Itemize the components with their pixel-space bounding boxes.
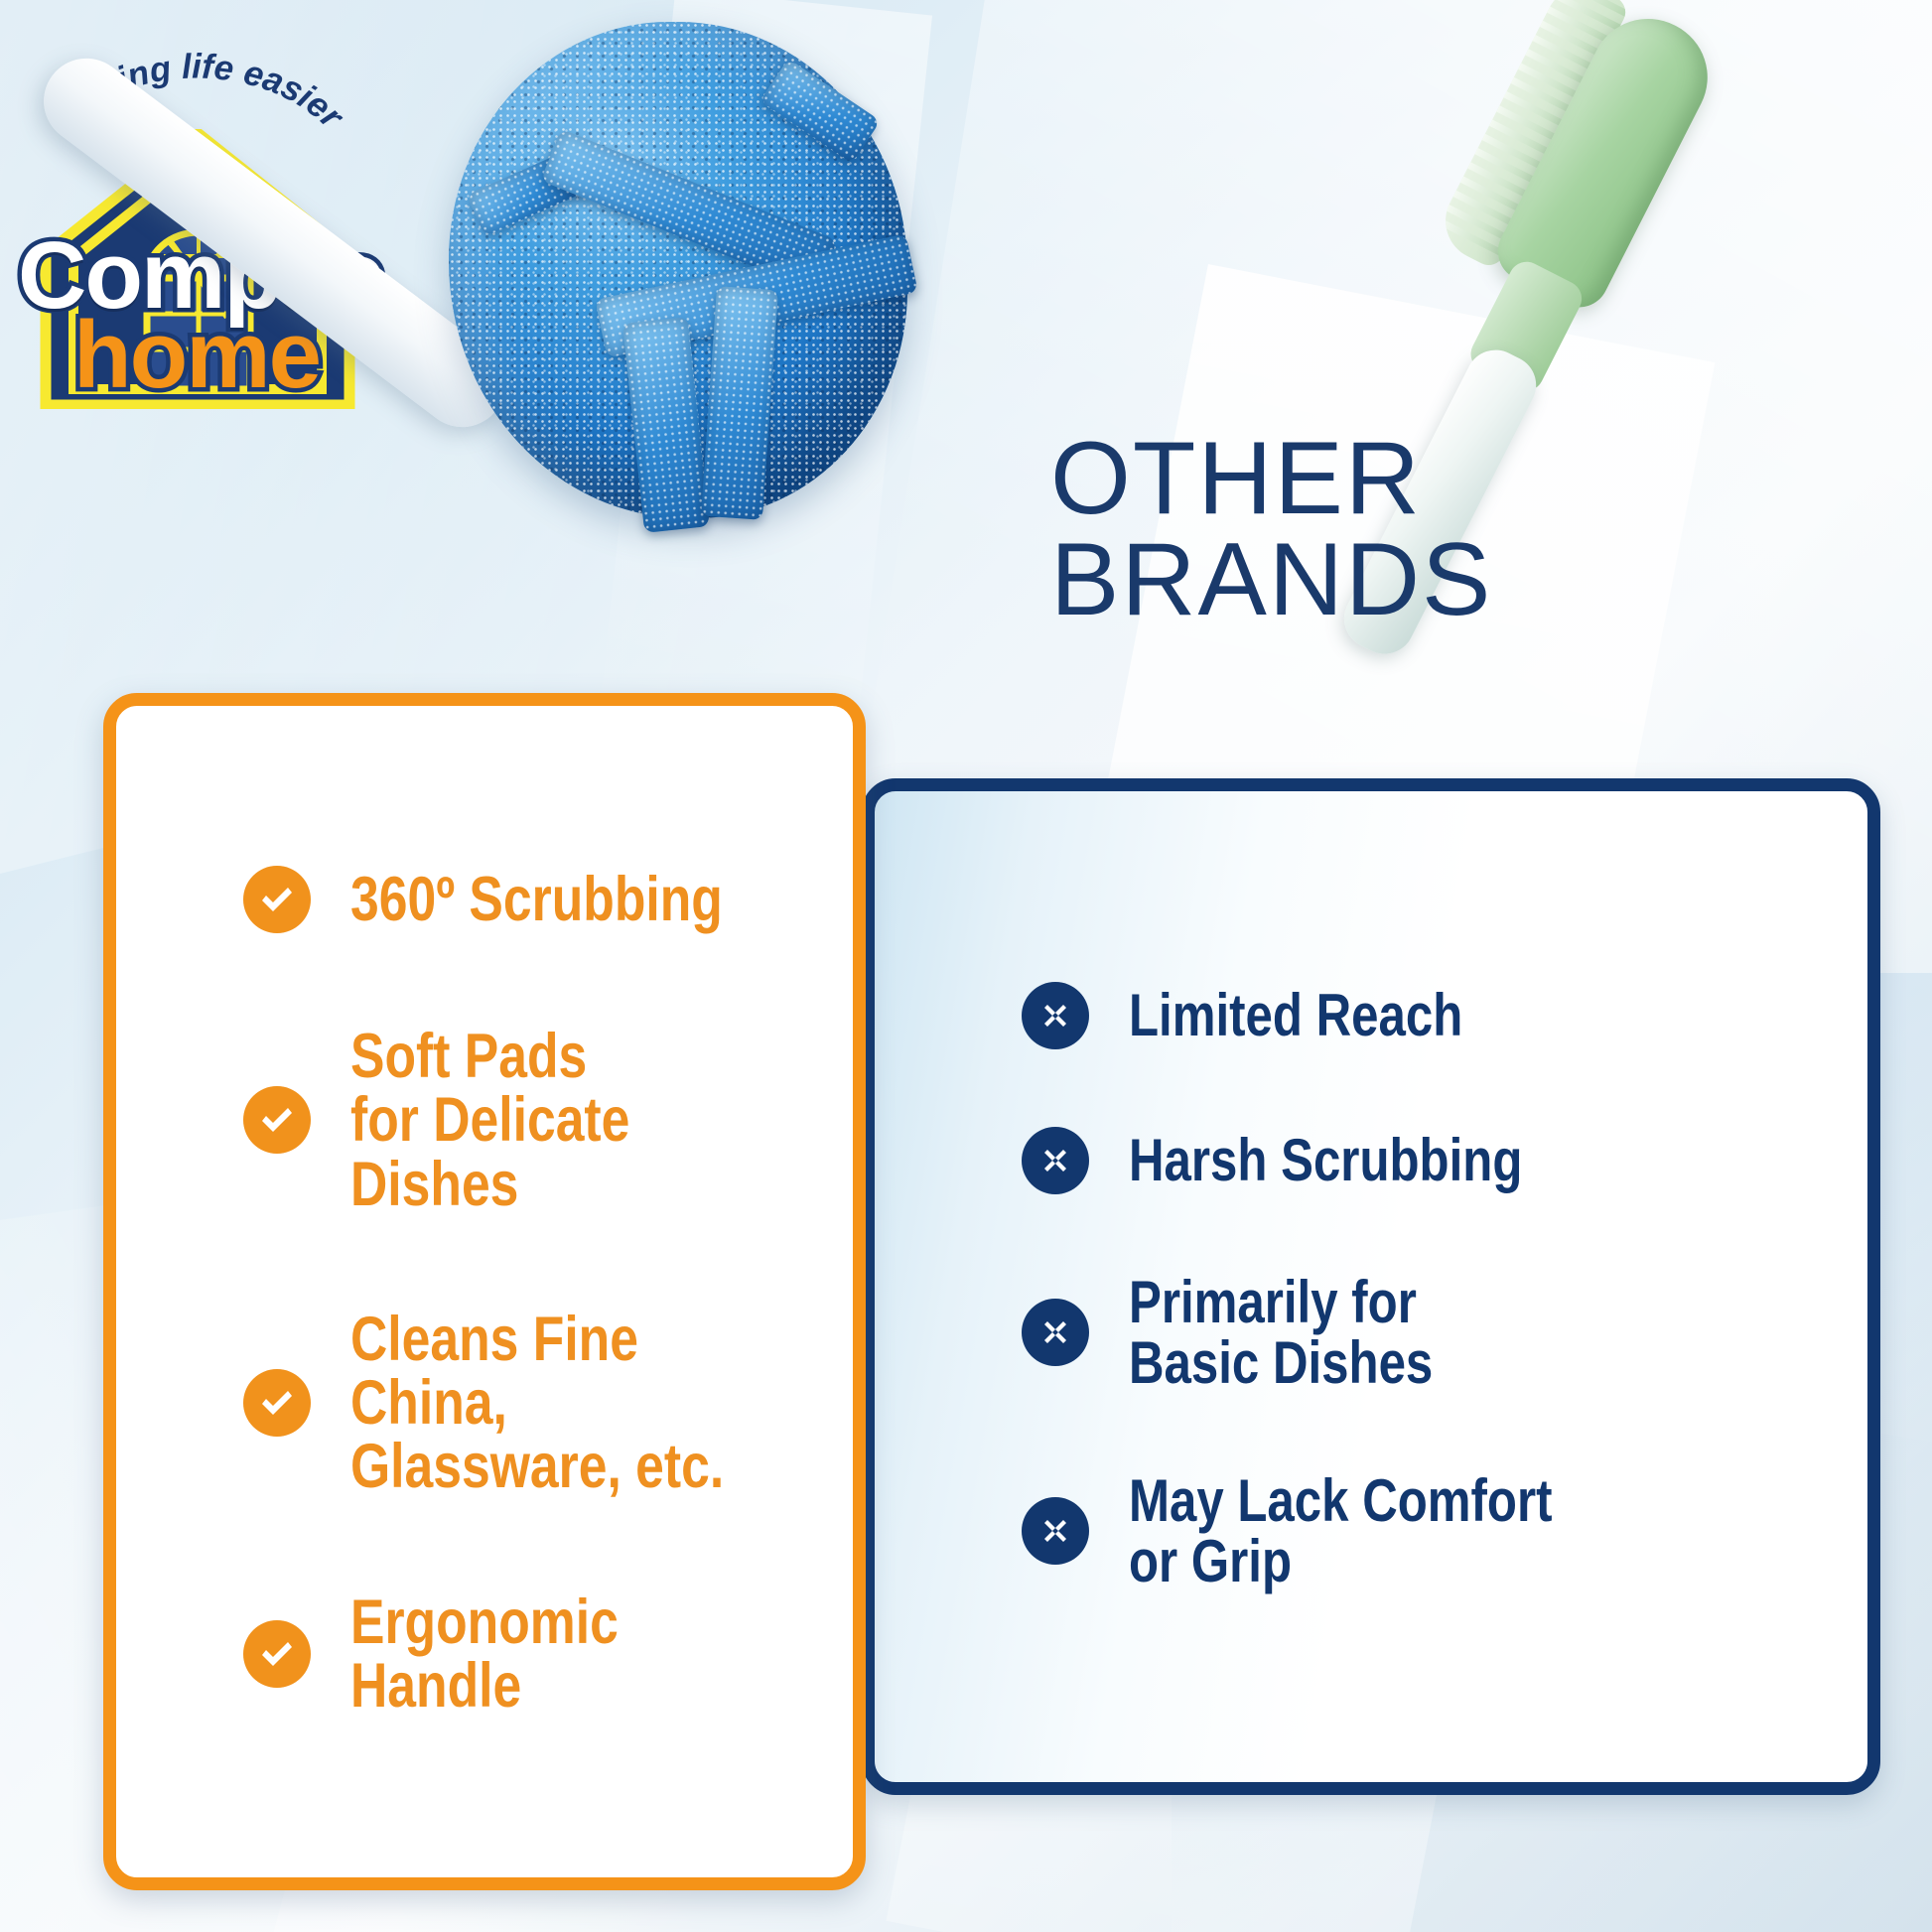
list-item-label: Ergonomic Handle: [350, 1590, 730, 1719]
other-brands-heading: OTHER BRANDS: [1050, 429, 1745, 631]
list-item-label: May Lack Comfort or Grip: [1129, 1470, 1552, 1591]
list-item-label: Harsh Scrubbing: [1129, 1130, 1522, 1190]
list-item: Harsh Scrubbing: [1022, 1127, 1832, 1194]
list-item: May Lack Comfort or Grip: [1022, 1470, 1832, 1591]
other-brands-heading-line2: BRANDS: [1050, 530, 1745, 631]
check-circle-icon: [243, 866, 311, 933]
check-circle-icon: [243, 1369, 311, 1437]
other-brands-heading-line1: OTHER: [1050, 429, 1745, 530]
x-circle-icon: [1022, 1127, 1089, 1194]
x-circle-icon: [1022, 982, 1089, 1049]
compac-home-panel: 360º Scrubbing Soft Pads for Delicate Di…: [103, 693, 866, 1890]
check-circle-icon: [243, 1086, 311, 1154]
check-circle-icon: [243, 1620, 311, 1688]
infographic-canvas: making life easier Compac home ™: [0, 0, 1932, 1932]
list-item-label: Cleans Fine China, Glassware, etc.: [350, 1308, 730, 1499]
list-item: Cleans Fine China, Glassware, etc.: [243, 1308, 813, 1499]
list-item-label: Primarily for Basic Dishes: [1129, 1272, 1433, 1393]
sponge-ball-icon: [449, 22, 907, 518]
x-circle-icon: [1022, 1299, 1089, 1366]
x-circle-icon: [1022, 1497, 1089, 1565]
other-brands-panel: Limited Reach Harsh Scrubbing Primarily …: [862, 778, 1880, 1795]
list-item: 360º Scrubbing: [243, 866, 813, 933]
list-item: Ergonomic Handle: [243, 1590, 813, 1719]
list-item-label: Soft Pads for Delicate Dishes: [350, 1025, 730, 1216]
list-item-label: 360º Scrubbing: [350, 868, 723, 931]
list-item: Soft Pads for Delicate Dishes: [243, 1025, 813, 1216]
list-item-label: Limited Reach: [1129, 985, 1462, 1045]
list-item: Primarily for Basic Dishes: [1022, 1272, 1832, 1393]
list-item: Limited Reach: [1022, 982, 1832, 1049]
